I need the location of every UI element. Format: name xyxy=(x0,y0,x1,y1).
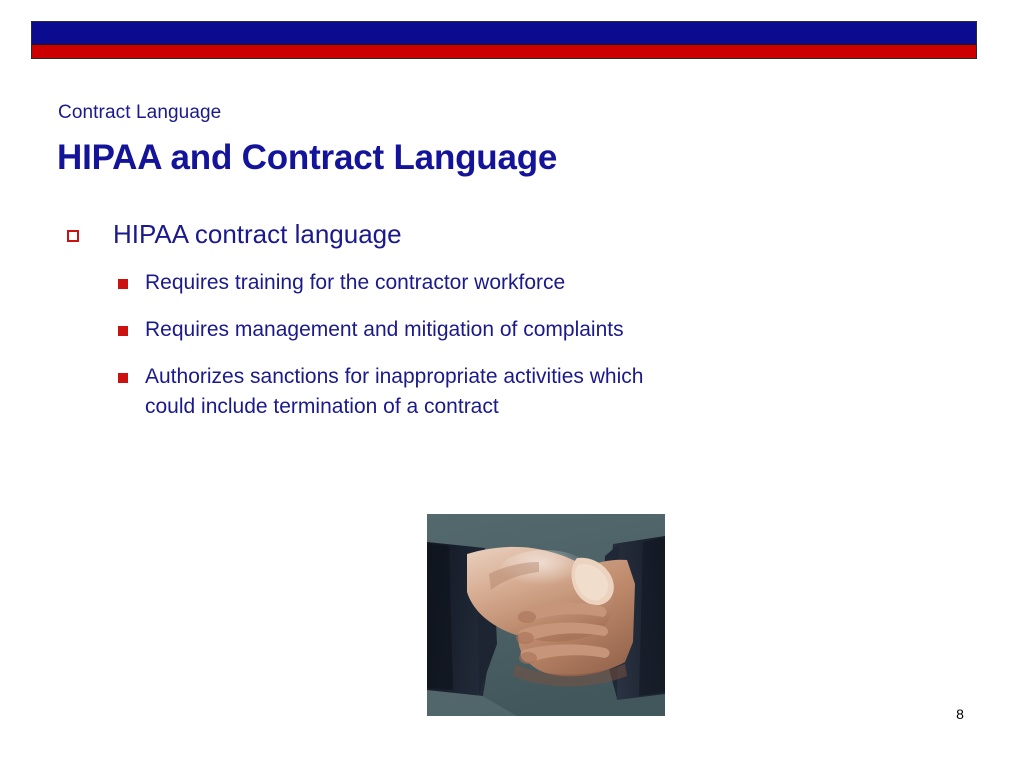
list-item-level2: Requires management and mitigation of co… xyxy=(0,315,1024,345)
page-number: 8 xyxy=(940,705,980,723)
header-bar-blue xyxy=(32,22,976,45)
bullet-list: HIPAA contract language Requires trainin… xyxy=(0,218,1024,439)
header-bar-red xyxy=(32,45,976,58)
list-item-level2-label-continued: could include termination of a contract xyxy=(145,392,929,422)
filled-square-bullet-icon xyxy=(118,326,128,336)
list-item-level2: Authorizes sanctions for inappropriate a… xyxy=(0,362,1024,422)
filled-square-bullet-icon xyxy=(118,373,128,383)
slide-canvas: Contract Language HIPAA and Contract Lan… xyxy=(0,0,1024,768)
list-item-level2: Requires training for the contractor wor… xyxy=(0,268,1024,298)
slide-eyebrow-label: Contract Language xyxy=(58,101,221,124)
list-item-level2-label: Authorizes sanctions for inappropriate a… xyxy=(145,362,929,392)
hollow-square-bullet-icon xyxy=(67,230,79,242)
handshake-photo xyxy=(427,514,665,716)
list-item-level2-label: Requires training for the contractor wor… xyxy=(145,268,929,298)
filled-square-bullet-icon xyxy=(118,279,128,289)
header-decoration-bars xyxy=(31,21,977,59)
page-title: HIPAA and Contract Language xyxy=(57,137,557,179)
list-item-level1-label: HIPAA contract language xyxy=(113,219,402,249)
list-item-level2-label: Requires management and mitigation of co… xyxy=(145,315,929,345)
list-item-level1: HIPAA contract language xyxy=(0,218,1024,250)
